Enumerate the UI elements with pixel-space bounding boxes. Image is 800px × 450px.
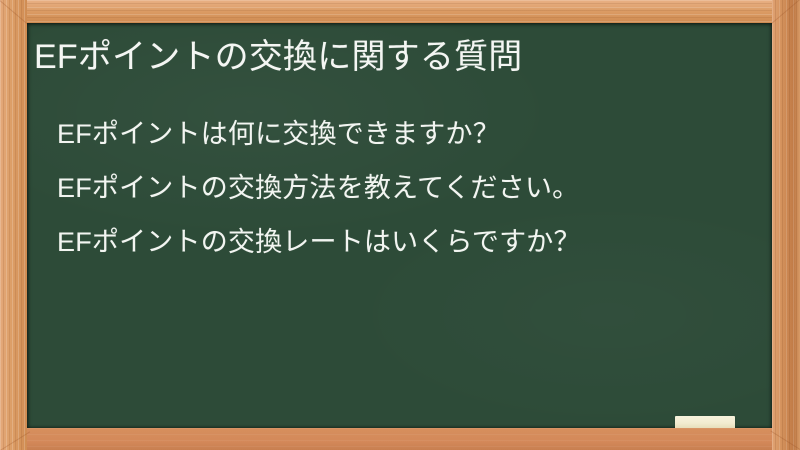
question-list-item: EFポイントの交換レートはいくらですか？ [57, 215, 581, 269]
frame-rail-left [0, 0, 27, 450]
chalk-stick [675, 416, 735, 428]
frame-rail-right [772, 0, 800, 450]
frame-ledge-bottom [0, 428, 800, 450]
question-list-item: EFポイントの交換方法を教えてください。 [57, 161, 581, 215]
frame-rail-top [0, 0, 800, 23]
question-list: EFポイントは何に交換できますか？ EFポイントの交換方法を教えてください。 E… [57, 107, 581, 269]
chalkboard-surface: EFポイントの交換に関する質問 EFポイントは何に交換できますか？ EFポイント… [27, 23, 772, 428]
slide-canvas: EFポイントの交換に関する質問 EFポイントは何に交換できますか？ EFポイント… [0, 0, 800, 450]
board-title: EFポイントの交換に関する質問 [34, 35, 522, 79]
question-list-item: EFポイントは何に交換できますか？ [57, 107, 581, 161]
